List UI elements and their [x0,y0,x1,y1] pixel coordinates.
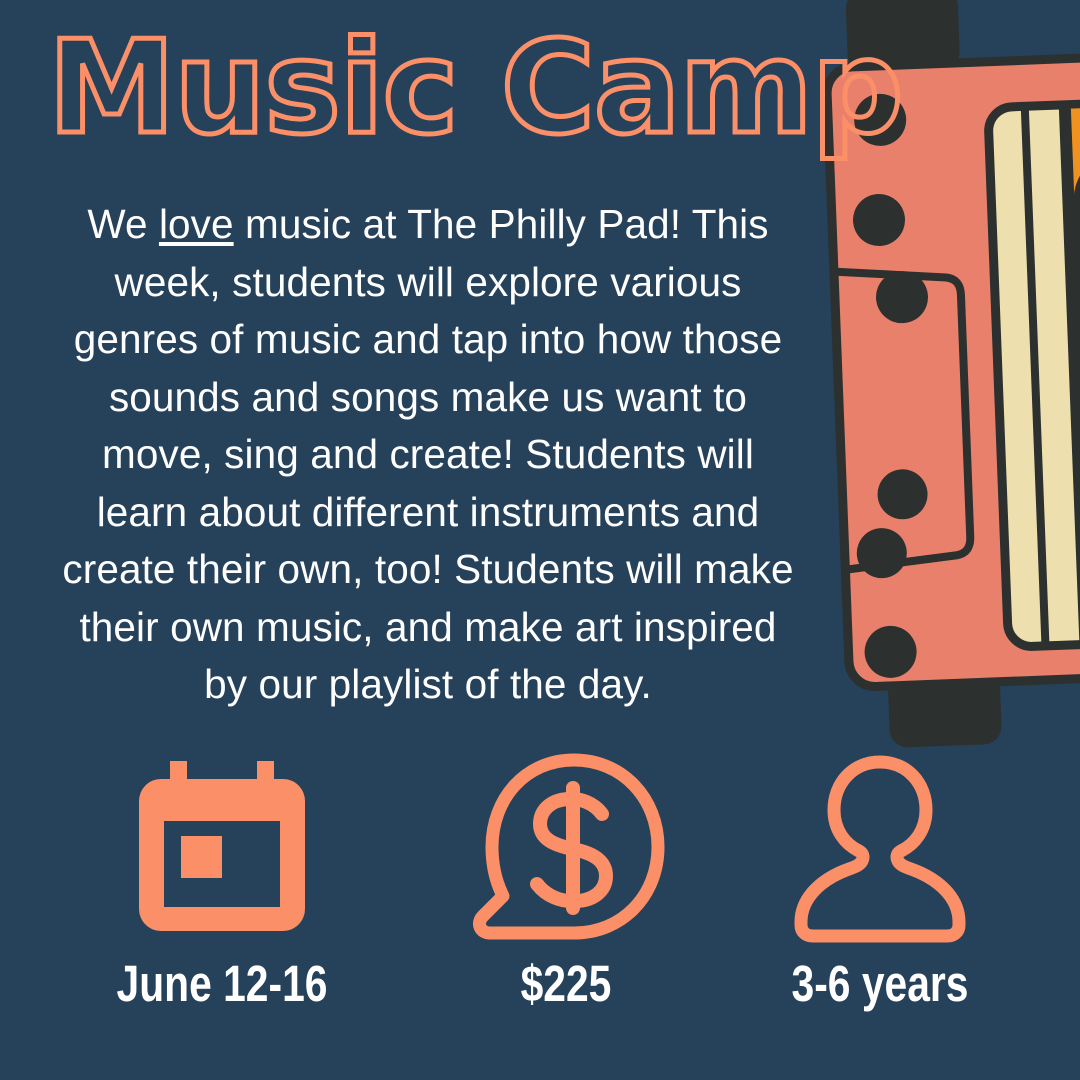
calendar-icon [72,748,372,948]
info-label-date: June 12-16 [102,958,342,1009]
info-row: June 12-16 $225 [0,748,1080,1058]
emphasis-love: love [159,201,234,247]
info-label-price: $225 [446,958,686,1009]
music-camp-flyer: Music Camp We love music at The Philly P… [0,0,1080,1080]
person-icon [730,748,1030,948]
info-item-date: June 12-16 [72,748,372,1058]
description-paragraph: We love music at The Philly Pad! This we… [58,196,798,714]
dollar-speech-bubble-icon [416,748,716,948]
paragraph-part-after: music at The Philly Pad! This week, stud… [62,201,793,707]
info-item-ages: 3-6 years [730,748,1030,1058]
info-label-ages: 3-6 years [760,958,1000,1009]
page-title: Music Camp [48,22,902,156]
paragraph-part-before: We [87,201,159,247]
info-item-price: $225 [416,748,716,1058]
